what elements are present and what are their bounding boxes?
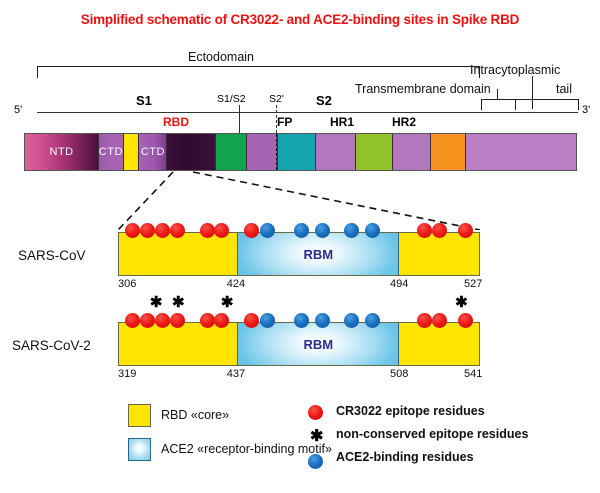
cr3022-residue-dot: [170, 223, 185, 238]
residue-number-sars-cov-2: 437: [227, 368, 245, 380]
cr3022-residue-dot: [200, 223, 215, 238]
rbm-region-sars-cov: RBM: [237, 233, 399, 275]
residue-number-sars-cov: 424: [227, 278, 245, 290]
bracket-ectodomain: [37, 66, 480, 78]
ace2-residue-dot: [315, 223, 330, 238]
cr3022-residue-dot: [155, 313, 170, 328]
tick-transmembrane: [497, 89, 498, 100]
legend-label-cr3022: CR3022 epitope residues: [336, 404, 485, 418]
cr3022-residue-dot: [140, 223, 155, 238]
residue-number-sars-cov: 527: [464, 278, 482, 290]
residue-number-sars-cov: 494: [390, 278, 408, 290]
ace2-residue-dot: [365, 313, 380, 328]
domain-segment-linker-3: [392, 134, 430, 170]
nonconserved-asterisk: ✱: [221, 295, 234, 310]
cleavage-label-s2-prime: S2': [269, 93, 284, 105]
ace2-residue-dot: [260, 223, 275, 238]
domain-segment-rbd-core: [123, 134, 139, 170]
domain-segment-linker-2: [315, 134, 355, 170]
legend-swatch-rbd-core: [128, 404, 151, 427]
three-prime-label: 3': [582, 104, 590, 116]
spike-axis-line: [37, 112, 578, 113]
tick-s1s2: [239, 105, 240, 133]
domain-segment-fp-segment: [215, 134, 245, 170]
ace2-residue-dot: [315, 313, 330, 328]
cr3022-residue-dot: [170, 313, 185, 328]
spike-domain-bar: NTDCTDCTD: [24, 133, 577, 171]
rbd-bar-sars-cov-2: RBM: [118, 322, 480, 366]
domain-segment-tm-segment: [430, 134, 465, 170]
domain-segment-ctd-1: CTD: [98, 134, 122, 170]
nonconserved-asterisk: ✱: [172, 295, 185, 310]
residue-number-sars-cov-2: 508: [390, 368, 408, 380]
nonconserved-asterisk: ✱: [455, 295, 468, 310]
legend-label-nonconserved: non-conserved epitope residues: [336, 427, 528, 441]
row-label-sars-cov-2: SARS-CoV-2: [12, 338, 91, 353]
bracket-label-ectodomain: Ectodomain: [188, 50, 254, 64]
residue-number-sars-cov: 306: [118, 278, 136, 290]
cr3022-residue-dot: [458, 313, 473, 328]
bracket-transmembrane: [481, 99, 516, 110]
bracket-label-intracytoplasmic: Intracytoplasmic: [470, 63, 560, 77]
domain-segment-hr2-segment: [355, 134, 392, 170]
rbd-bar-sars-cov: RBM: [118, 232, 480, 276]
cleavage-label-s1s2: S1/S2: [217, 93, 246, 105]
rbm-region-sars-cov-2: RBM: [237, 323, 399, 365]
figure-title: Simplified schematic of CR3022- and ACE2…: [0, 12, 600, 27]
domain-segment-ctd-2: CTD: [138, 134, 166, 170]
tick-tail: [532, 76, 533, 109]
subunit-label-s2: S2: [316, 93, 332, 108]
cr3022-residue-dot: [458, 223, 473, 238]
domain-segment-ntd: NTD: [25, 134, 98, 170]
row-label-sars-cov: SARS-CoV: [18, 248, 86, 263]
legend-label-rbm: ACE2 «receptor-binding motif»: [161, 442, 332, 456]
domain-segment-label: NTD: [25, 134, 98, 170]
zoom-connector-lines: [0, 168, 600, 230]
legend-asterisk-icon: ✱: [310, 426, 323, 446]
subunit-label-s1: S1: [136, 93, 152, 108]
ace2-residue-dot: [260, 313, 275, 328]
cr3022-residue-dot: [200, 313, 215, 328]
domain-segment-s2-start-dark: [166, 134, 215, 170]
bracket-label-transmembrane-domain: Transmembrane domain: [355, 82, 491, 96]
residue-number-sars-cov-2: 319: [118, 368, 136, 380]
feature-label-rbd: RBD: [163, 115, 189, 129]
domain-segment-cyto-tail: [465, 134, 576, 170]
feature-label-hr1: HR1: [330, 115, 354, 129]
rbm-label: RBM: [238, 233, 398, 275]
legend-swatch-rbm: [128, 438, 151, 461]
domain-segment-linker-1: [246, 134, 278, 170]
domain-segment-label: CTD: [139, 134, 166, 170]
figure-canvas: Simplified schematic of CR3022- and ACE2…: [0, 0, 600, 493]
ace2-residue-dot: [365, 223, 380, 238]
residue-number-sars-cov-2: 541: [464, 368, 482, 380]
domain-segment-hr1-segment: [277, 134, 315, 170]
cr3022-residue-dot: [140, 313, 155, 328]
feature-label-fp: FP: [277, 115, 292, 129]
domain-segment-label: CTD: [99, 134, 122, 170]
five-prime-label: 5': [14, 104, 22, 116]
legend-label-rbd-core: RBD «core»: [161, 408, 229, 422]
cr3022-residue-dot: [155, 223, 170, 238]
feature-label-hr2: HR2: [392, 115, 416, 129]
legend-label-ace2: ACE2-binding residues: [336, 450, 474, 464]
dashed-marker-s2-prime: [276, 134, 277, 170]
bracket-intracytoplasmic: [515, 99, 579, 110]
rbm-label: RBM: [238, 323, 398, 365]
nonconserved-asterisk: ✱: [150, 295, 163, 310]
bracket-label-tail: tail: [556, 82, 572, 96]
legend-dot-cr3022: [308, 405, 323, 420]
legend-dot-ace2: [308, 454, 323, 469]
